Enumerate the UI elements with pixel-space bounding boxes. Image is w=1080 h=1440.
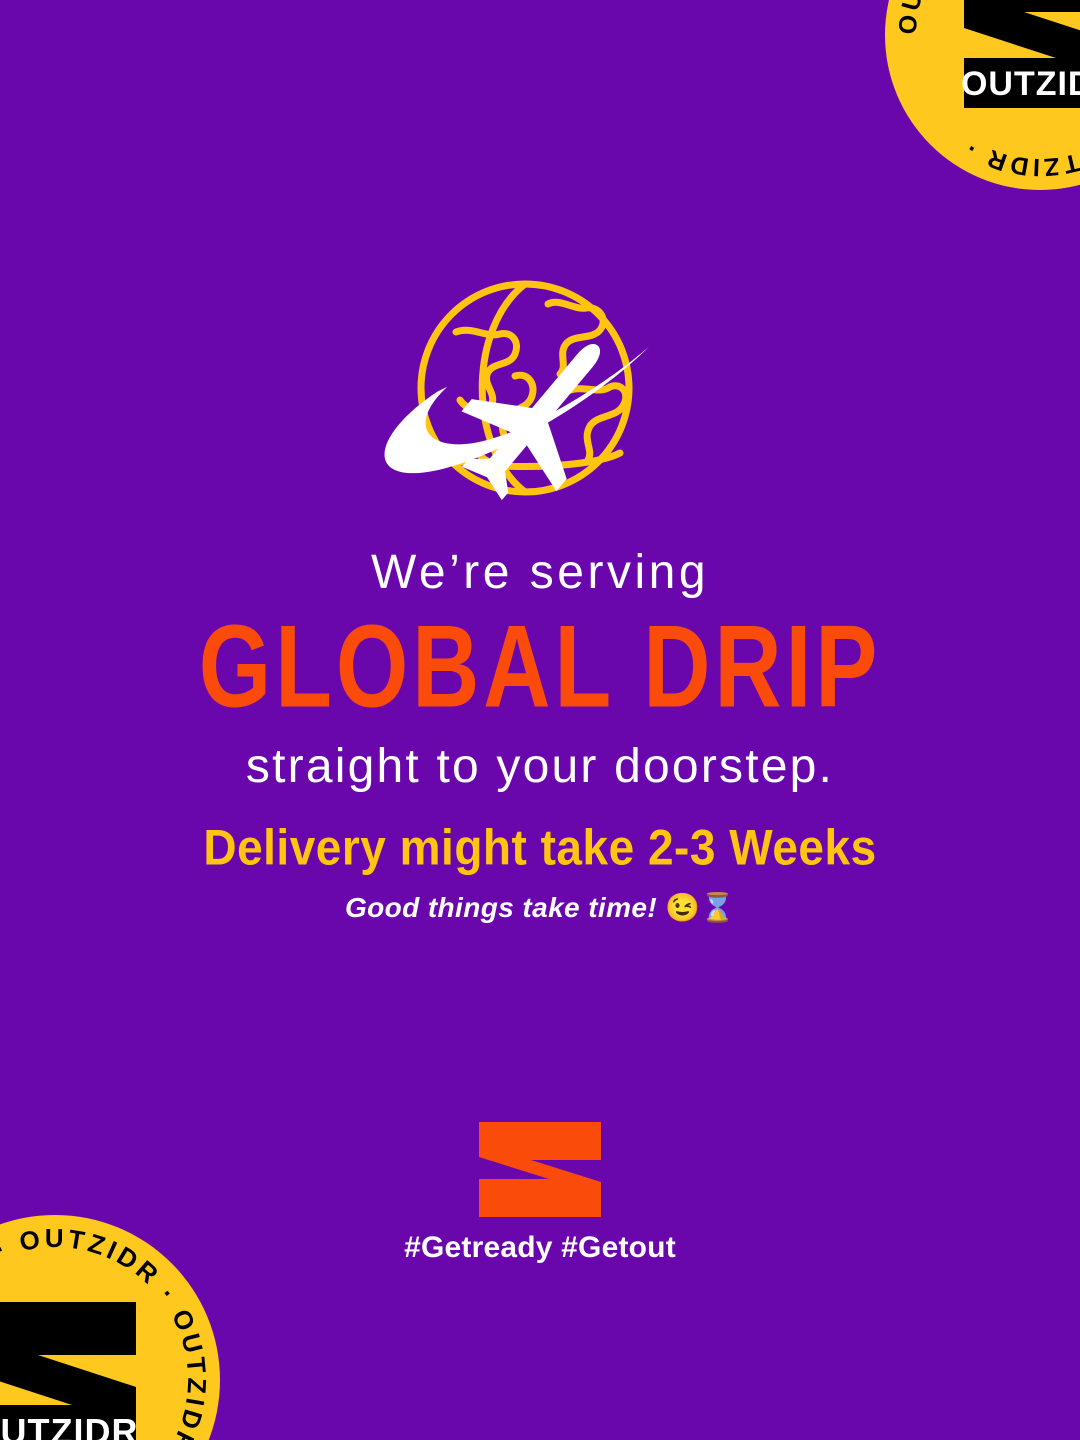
outzidr-z-logo [0,1122,1080,1217]
emblem-graphic [360,268,720,508]
wink-hourglass-emoji: 😉⌛ [665,892,735,923]
headline-line-1: We’re serving [0,545,1080,601]
badge-core-top-right: OUTZIDR [946,0,1080,114]
delivery-timeframe: Delivery might take 2-3 Weeks [0,820,1080,875]
brand-badge-top-right: OUTZIDR · OUTZIDR · OUTZIDR · OUTZIDR · … [885,0,1080,190]
footer-brand-block: #Getready #Getout [0,1122,1080,1265]
headline-block: We’re serving GLOBAL DRIP straight to yo… [0,545,1080,794]
headline-line-3: straight to your doorstep. [0,739,1080,795]
delivery-subnote-text: Good things take time! [345,892,657,923]
headline-line-2: GLOBAL DRIP [16,609,1064,726]
hashtag-line: #Getready #Getout [0,1231,1080,1265]
delivery-notice-block: Delivery might take 2-3 Weeks Good thing… [0,822,1080,924]
globe-airplane-emblem [0,268,1080,508]
badge-core-label: OUTZIDR [0,1411,138,1440]
promo-poster: OUTZIDR · OUTZIDR · OUTZIDR · OUTZIDR · … [0,0,1080,1440]
badge-core-label: OUTZIDR [961,65,1080,103]
badge-core-bottom-left: OUTZIDR [0,1296,155,1440]
delivery-subnote: Good things take time! 😉⌛ [0,891,1080,924]
